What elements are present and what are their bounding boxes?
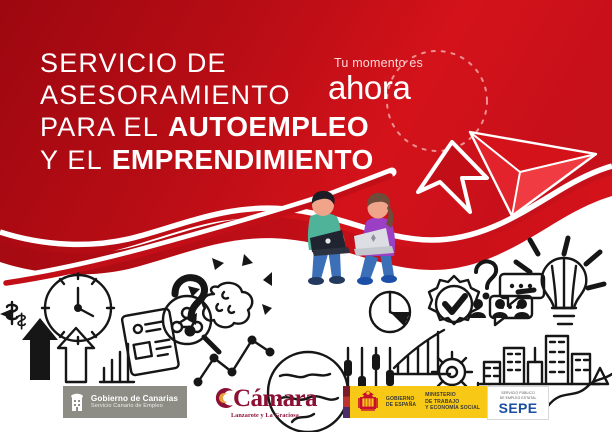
espana-flag-field: GOBIERNO DE ESPAÑA MINISTERIO DE TRABAJO… <box>350 386 487 418</box>
ministerio-line-3: Y ECONOMÍA SOCIAL <box>425 405 480 411</box>
tagline-small: Tu momento es <box>328 56 498 70</box>
canarias-subtitle: Servicio Canario de Empleo <box>91 403 178 410</box>
logo-camara: Cámara Lanzarote y La Graciosa <box>213 385 317 419</box>
espana-line-2: DE ESPAÑA <box>386 402 416 408</box>
bar-chart-icon <box>392 330 450 374</box>
headline-line-3-light: PARA EL <box>40 112 159 144</box>
headline-line-4: Y EL EMPRENDIMIENTO <box>40 144 390 177</box>
camara-wordmark-row: Cámara <box>213 385 317 411</box>
document-icon <box>122 308 180 375</box>
headline-line-3-bold: AUTOEMPLEO <box>168 111 369 144</box>
people-with-laptops-illustration <box>288 186 428 301</box>
tagline-big: ahora <box>328 71 498 105</box>
institutional-logo-bar: Gobierno de Canarias Servicio Canario de… <box>0 380 612 424</box>
dollar-sign-icon <box>18 313 25 328</box>
line-graph-icon <box>194 336 275 387</box>
espana-flag-stripe <box>343 386 350 418</box>
camara-c-mark-icon <box>213 385 235 411</box>
canarias-crest-icon <box>69 391 85 413</box>
canarias-title: Gobierno de Canarias <box>91 394 178 403</box>
headline-line-4-bold: EMPRENDIMIENTO <box>112 144 374 177</box>
camara-subtitle: Lanzarote y La Graciosa <box>231 413 299 419</box>
headline-line-4-light: Y EL <box>40 145 103 177</box>
spain-coat-of-arms-icon <box>355 389 381 415</box>
logo-gobierno-de-espana: GOBIERNO DE ESPAÑA MINISTERIO DE TRABAJO… <box>343 386 549 418</box>
up-arrow-icon <box>22 318 58 380</box>
logo-gobierno-de-canarias: Gobierno de Canarias Servicio Canario de… <box>63 386 187 418</box>
sepe-acronym: SEPE <box>499 401 538 415</box>
promotional-poster: SERVICIO DE ASESORAMIENTO PARA EL AUTOEM… <box>0 0 612 432</box>
city-skyline-icon <box>480 336 608 384</box>
arrow-marker-icon <box>0 309 12 319</box>
logo-sepe: SERVICIO PÚBLICO DE EMPLEO ESTATAL SEPE <box>487 386 549 420</box>
espana-text-block: GOBIERNO DE ESPAÑA <box>386 396 416 409</box>
bar-chart-icon <box>100 344 134 382</box>
ministerio-text-block: MINISTERIO DE TRABAJO Y ECONOMÍA SOCIAL <box>425 392 480 411</box>
camara-name: Cámara <box>233 387 317 411</box>
headline-line-3: PARA EL AUTOEMPLEO <box>40 111 390 144</box>
up-arrow-icon <box>58 328 94 382</box>
tagline-block: Tu momento es ahora <box>328 56 498 105</box>
